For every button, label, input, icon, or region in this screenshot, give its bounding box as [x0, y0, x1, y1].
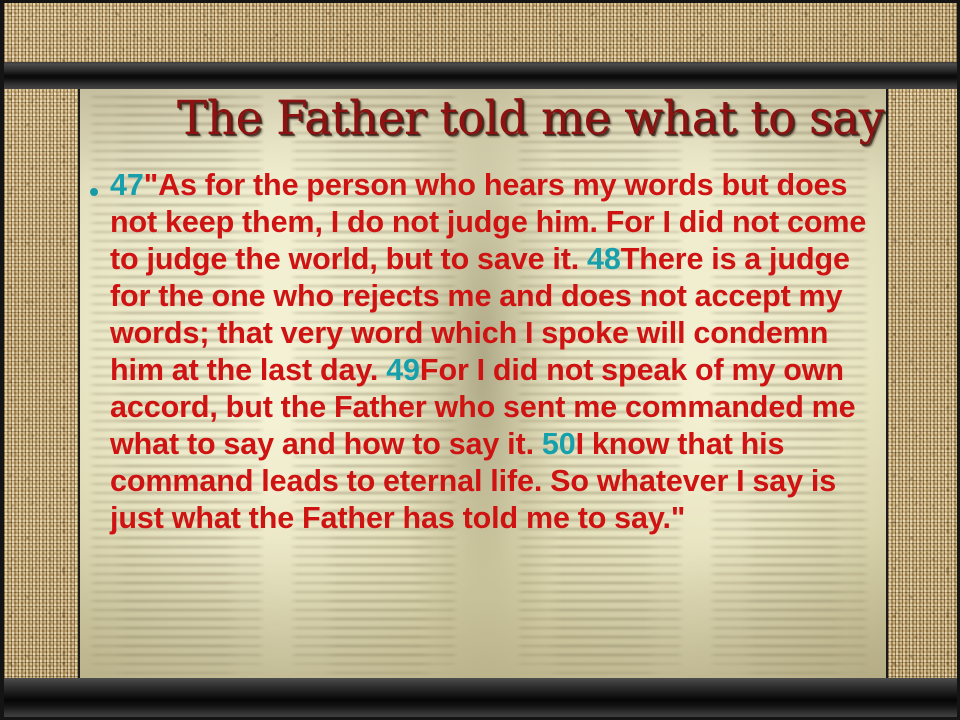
- verse-bullet-item: 47"As for the person who hears my words …: [80, 167, 888, 537]
- top-texture-band: [0, 0, 960, 62]
- verse-body-text: 47"As for the person who hears my words …: [110, 167, 882, 537]
- left-texture-column: [0, 89, 78, 678]
- presentation-slide: The Father told me what to say 47"As for…: [0, 0, 960, 720]
- slide-title: The Father told me what to say: [177, 95, 884, 144]
- verse-number-47: 47: [110, 168, 144, 202]
- verse-number-48: 48: [587, 242, 621, 276]
- right-texture-column: [888, 89, 960, 678]
- bullet-marker: [90, 167, 110, 201]
- verse-number-50: 50: [542, 427, 576, 461]
- verse-number-49: 49: [386, 353, 420, 387]
- bottom-divider-bar: [0, 678, 960, 720]
- bullet-dot-icon: [90, 188, 98, 196]
- title-container: The Father told me what to say: [80, 95, 888, 144]
- slide-content-panel: The Father told me what to say 47"As for…: [78, 89, 888, 678]
- top-divider-bar: [0, 62, 960, 89]
